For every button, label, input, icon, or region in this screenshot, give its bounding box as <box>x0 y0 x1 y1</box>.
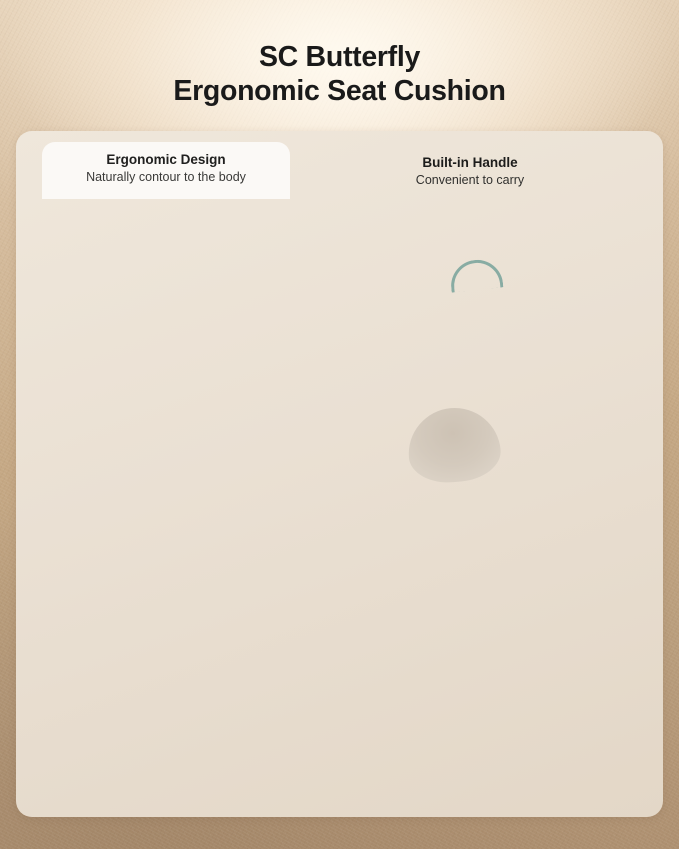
feature-panel <box>16 131 663 817</box>
ergonomic-design-title: Ergonomic Design <box>42 151 290 168</box>
page-title: SC Butterfly Ergonomic Seat Cushion <box>0 40 679 108</box>
built-in-handle-title: Built-in Handle <box>302 154 638 171</box>
ergonomic-design-subtitle: Naturally contour to the body <box>42 168 290 186</box>
ergonomic-design-caption: Ergonomic Design Naturally contour to th… <box>42 142 290 199</box>
built-in-handle-subtitle: Convenient to carry <box>302 171 638 189</box>
title-line-2: Ergonomic Seat Cushion <box>0 74 679 108</box>
title-line-1: SC Butterfly <box>0 40 679 74</box>
built-in-handle-caption: Built-in Handle Convenient to carry <box>302 154 638 189</box>
